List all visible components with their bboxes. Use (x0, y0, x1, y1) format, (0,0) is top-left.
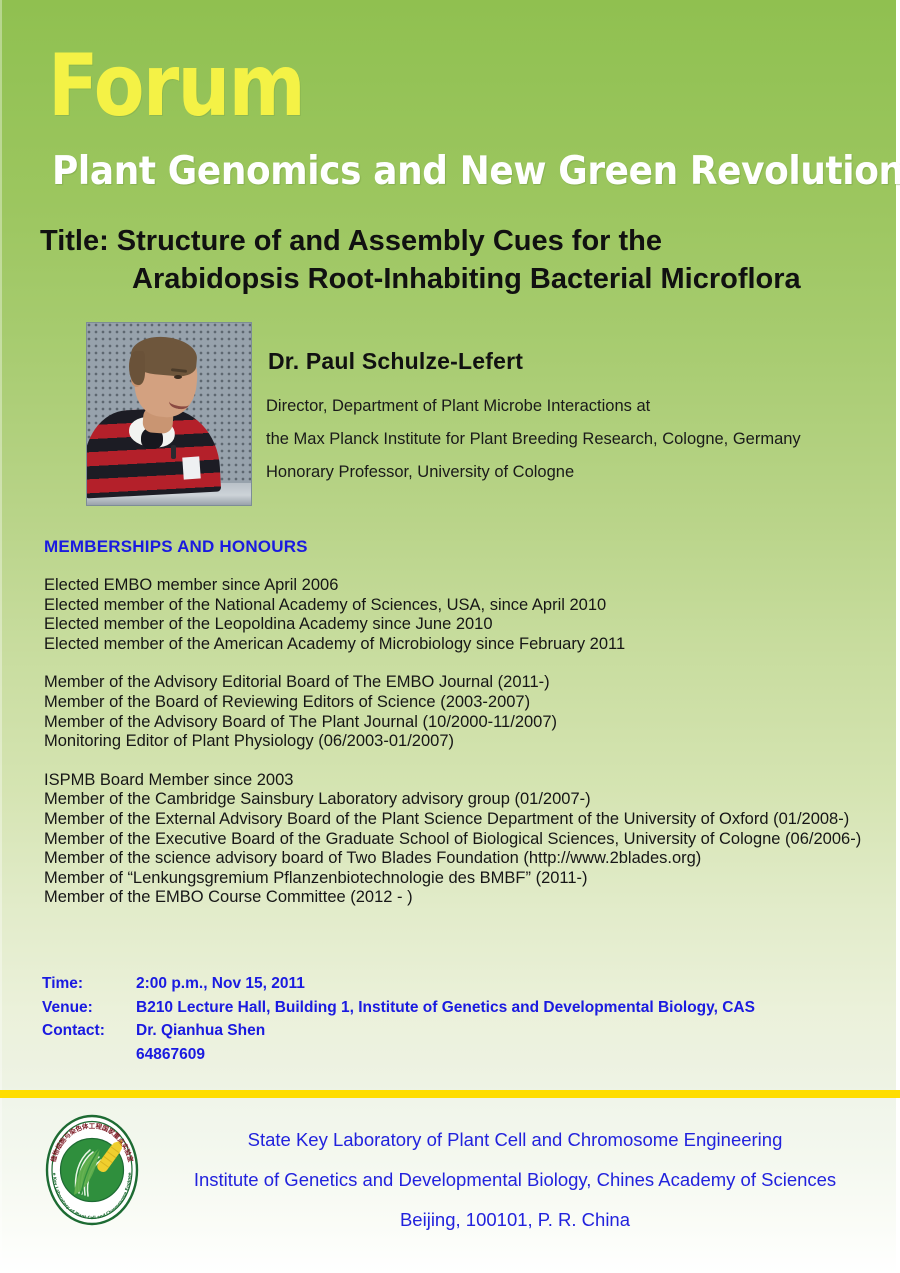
photo-sideburn (129, 351, 145, 385)
forum-subtitle: Plant Genomics and New Green Revolution (52, 150, 900, 194)
membership-item: ISPMB Board Member since 2003 (44, 771, 868, 791)
footer-address: State Key Laboratory of Plant Cell and C… (150, 1120, 880, 1240)
contact-label: Contact: (42, 1019, 136, 1043)
contact-value: Dr. Qianhua Shen (136, 1019, 755, 1043)
photo-eye (174, 375, 182, 379)
talk-title: Title: Structure of and Assembly Cues fo… (40, 222, 870, 298)
contact-phone: 64867609 (136, 1043, 755, 1067)
speaker-affiliation-line: Honorary Professor, University of Cologn… (266, 456, 886, 489)
time-value: 2:00 p.m., Nov 15, 2011 (136, 972, 755, 996)
speaker-affiliation-line: the Max Planck Institute for Plant Breed… (266, 423, 886, 456)
speaker-affiliation-line: Director, Department of Plant Microbe In… (266, 390, 886, 423)
speaker-affiliations: Director, Department of Plant Microbe In… (266, 390, 886, 489)
footer-line-3: Beijing, 100101, P. R. China (150, 1200, 880, 1240)
footer-line-1: State Key Laboratory of Plant Cell and C… (150, 1120, 880, 1160)
phone-label-spacer (42, 1043, 136, 1067)
membership-item: Member of the Cambridge Sainsbury Labora… (44, 790, 868, 810)
memberships-group-1: Elected EMBO member since April 2006 Ele… (44, 576, 868, 654)
membership-item: Member of the Advisory Board of The Plan… (44, 713, 868, 733)
venue-label: Venue: (42, 996, 136, 1020)
event-venue-row: Venue: B210 Lecture Hall, Building 1, In… (42, 996, 755, 1020)
membership-item: Member of the EMBO Course Committee (201… (44, 888, 868, 908)
membership-item: Member of “Lenkungsgremium Pflanzenbiote… (44, 869, 868, 889)
footer-line-2: Institute of Genetics and Developmental … (150, 1160, 880, 1200)
membership-item: Member of the Advisory Editorial Board o… (44, 673, 868, 693)
membership-item: Member of the Executive Board of the Gra… (44, 830, 868, 850)
event-time-row: Time: 2:00 p.m., Nov 15, 2011 (42, 972, 755, 996)
photo-clip-microphone (171, 445, 176, 459)
poster-root: Forum Plant Genomics and New Green Revol… (0, 0, 900, 1273)
membership-item: Elected member of the American Academy o… (44, 635, 868, 655)
forum-heading: Forum (48, 38, 304, 134)
yellow-divider (0, 1090, 900, 1098)
speaker-name: Dr. Paul Schulze-Lefert (268, 348, 523, 375)
talk-title-line-2: Arabidopsis Root-Inhabiting Bacterial Mi… (40, 260, 870, 298)
speaker-photo (86, 322, 252, 506)
membership-item: Member of the Board of Reviewing Editors… (44, 693, 868, 713)
page-frame-left (0, 0, 2, 1273)
venue-value: B210 Lecture Hall, Building 1, Institute… (136, 996, 755, 1020)
memberships-group-2: Member of the Advisory Editorial Board o… (44, 673, 868, 751)
state-key-laboratory-logo: 植物细胞与染色体工程国家重点实验室 State Key Laboratory o… (40, 1112, 144, 1228)
event-phone-row: 64867609 (42, 1043, 755, 1067)
photo-name-badge (182, 456, 200, 479)
talk-title-line-1: Title: Structure of and Assembly Cues fo… (40, 225, 662, 257)
memberships-list: Elected EMBO member since April 2006 Ele… (44, 576, 868, 908)
membership-item: Monitoring Editor of Plant Physiology (0… (44, 732, 868, 752)
event-details: Time: 2:00 p.m., Nov 15, 2011 Venue: B21… (42, 972, 755, 1066)
membership-item: Member of the External Advisory Board of… (44, 810, 868, 830)
memberships-group-3: ISPMB Board Member since 2003 Member of … (44, 771, 868, 908)
membership-item: Member of the science advisory board of … (44, 849, 868, 869)
time-label: Time: (42, 972, 136, 996)
membership-item: Elected member of the National Academy o… (44, 596, 868, 616)
event-contact-row: Contact: Dr. Qianhua Shen (42, 1019, 755, 1043)
membership-item: Elected EMBO member since April 2006 (44, 576, 868, 596)
memberships-heading: MEMBERSHIPS AND HONOURS (44, 537, 308, 557)
membership-item: Elected member of the Leopoldina Academy… (44, 615, 868, 635)
